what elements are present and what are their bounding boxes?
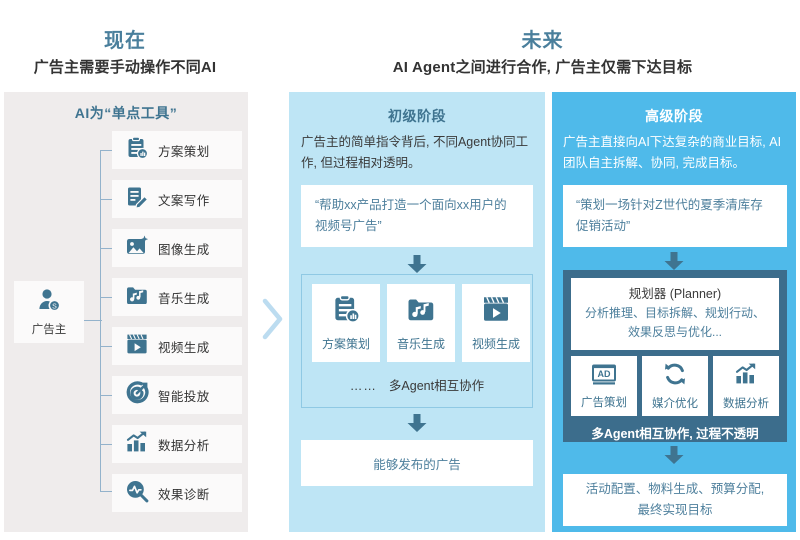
column-advanced-description: 广告主直接向AI下达复杂的商业目标, AI团队自主拆解、协同, 完成目标。 — [563, 132, 787, 174]
column-advanced-title: 高级阶段 — [552, 106, 796, 126]
tree-vertical-line — [100, 150, 101, 491]
ellipsis-dots: …… — [350, 379, 377, 393]
planner-title: 规划器 (Planner) — [579, 285, 771, 304]
video-clapboard-icon — [125, 332, 149, 361]
agent-card-label: 视频生成 — [472, 335, 520, 352]
primary-agent-cards: 方案策划 音乐生成 — [312, 284, 530, 362]
tool-label: 数据分析 — [158, 435, 210, 454]
ad-banner-icon: AD — [591, 363, 617, 390]
column-primary-quote: “帮助xx产品打造一个面向xx用户的视频号广告” — [301, 185, 533, 247]
agent-card-label: 方案策划 — [322, 335, 370, 352]
clipboard-plan-icon — [125, 136, 149, 165]
advertiser-label: 广告主 — [32, 321, 67, 337]
header-future-subtitle: AI Agent之间进行合作, 广告主仅需下达目标 — [285, 57, 800, 79]
tree-branch-2 — [100, 199, 112, 200]
image-sparkle-icon — [125, 234, 149, 263]
advertiser-card[interactable]: S 广告主 — [14, 281, 84, 343]
video-clapboard-icon — [481, 294, 511, 329]
left-panel-title: AI为“单点工具” — [4, 103, 248, 123]
column-advanced-quote: “策划一场针对Z世代的夏季清库存促销活动” — [563, 185, 787, 247]
tree-branch-7 — [100, 444, 112, 445]
tool-item-music[interactable]: 音乐生成 — [112, 278, 242, 316]
tree-branch-5 — [100, 346, 112, 347]
tool-label: 视频生成 — [158, 337, 210, 356]
header-present: 现在 广告主需要手动操作不同AI — [0, 28, 250, 79]
tool-item-delivery[interactable]: 智能投放 — [112, 376, 242, 414]
advanced-agents-caption: 多Agent相互协作, 过程不透明 — [571, 423, 779, 442]
agent-card-label: 音乐生成 — [397, 335, 445, 352]
advanced-output-box: 活动配置、物料生成、预算分配, 最终实现目标 — [563, 474, 787, 526]
music-folder-icon — [125, 283, 149, 312]
tool-item-plan[interactable]: 方案策划 — [112, 131, 242, 169]
clipboard-plan-icon — [331, 294, 361, 329]
tool-item-copywriting[interactable]: 文案写作 — [112, 180, 242, 218]
svg-text:S: S — [52, 304, 57, 311]
tool-label: 效果诊断 — [158, 484, 210, 503]
header-present-subtitle: 广告主需要手动操作不同AI — [0, 57, 250, 79]
bar-chart-growth-icon — [125, 430, 149, 459]
agent-card-video[interactable]: 视频生成 — [462, 284, 530, 362]
magnifier-pulse-icon — [125, 479, 149, 508]
arrow-down-icon — [401, 414, 433, 437]
tool-item-diagnosis[interactable]: 效果诊断 — [112, 474, 242, 512]
tool-label: 音乐生成 — [158, 288, 210, 307]
tree-branch-4 — [100, 297, 112, 298]
advanced-output-line1: 活动配置、物料生成、预算分配, — [586, 479, 764, 500]
tool-label: 智能投放 — [158, 386, 210, 405]
agent-card-label: 媒介优化 — [652, 395, 698, 411]
primary-output-box: 能够发布的广告 — [301, 440, 533, 486]
tool-item-video[interactable]: 视频生成 — [112, 327, 242, 365]
arrow-down-icon — [658, 446, 690, 469]
planner-card[interactable]: 规划器 (Planner) 分析推理、目标拆解、规划行动、 效果反思与优化... — [571, 278, 779, 350]
tool-item-analytics[interactable]: 数据分析 — [112, 425, 242, 463]
svg-text:AD: AD — [598, 369, 611, 379]
agent-card-media-optimization[interactable]: 媒介优化 — [642, 356, 708, 416]
primary-agents-group: 方案策划 音乐生成 — [301, 274, 533, 408]
advanced-output-line2: 最终实现目标 — [586, 500, 764, 521]
agent-card-music[interactable]: 音乐生成 — [387, 284, 455, 362]
column-advanced-stage: 高级阶段 广告主直接向AI下达复杂的商业目标, AI团队自主拆解、协同, 完成目… — [552, 92, 796, 532]
document-pencil-icon — [125, 185, 149, 214]
tool-label: 文案写作 — [158, 190, 210, 209]
bar-chart-growth-icon — [734, 362, 758, 391]
tree-branch-3 — [100, 248, 112, 249]
header-future-title: 未来 — [285, 28, 800, 54]
column-primary-stage: 初级阶段 广告主的简单指令背后, 不同Agent协同工作, 但过程相对透明。 “… — [289, 92, 545, 532]
tree-branch-8 — [100, 491, 112, 492]
planner-detail-line2: 效果反思与优化... — [579, 323, 771, 342]
agent-card-ad-planning[interactable]: AD 广告策划 — [571, 356, 637, 416]
header-present-title: 现在 — [0, 28, 250, 54]
tool-item-image[interactable]: 图像生成 — [112, 229, 242, 267]
agent-card-label: 广告策划 — [581, 394, 627, 410]
primary-agents-caption-row: ……多Agent相互协作 — [302, 375, 532, 394]
column-primary-title: 初级阶段 — [289, 106, 545, 126]
refresh-cycle-icon — [663, 362, 687, 391]
tree-branch-1 — [100, 150, 112, 151]
primary-agents-caption: 多Agent相互协作 — [389, 379, 484, 393]
target-arrow-icon — [125, 381, 149, 410]
infographic-canvas: 现在 广告主需要手动操作不同AI 未来 AI Agent之间进行合作, 广告主仅… — [0, 0, 800, 540]
user-advertiser-icon: S — [36, 287, 62, 318]
planner-detail-line1: 分析推理、目标拆解、规划行动、 — [579, 304, 771, 323]
header-future: 未来 AI Agent之间进行合作, 广告主仅需下达目标 — [285, 28, 800, 79]
agent-card-data-analysis[interactable]: 数据分析 — [713, 356, 779, 416]
chevron-right-icon — [262, 298, 284, 340]
advanced-agent-cards: AD 广告策划 媒介优化 — [571, 356, 779, 416]
tool-label: 方案策划 — [158, 141, 210, 160]
advanced-agent-team-panel: 规划器 (Planner) 分析推理、目标拆解、规划行动、 效果反思与优化...… — [563, 270, 787, 442]
agent-card-label: 数据分析 — [723, 395, 769, 411]
music-folder-icon — [406, 294, 436, 329]
column-primary-description: 广告主的简单指令背后, 不同Agent协同工作, 但过程相对透明。 — [301, 132, 533, 174]
tool-label: 图像生成 — [158, 239, 210, 258]
tree-branch-6 — [100, 395, 112, 396]
agent-card-plan[interactable]: 方案策划 — [312, 284, 380, 362]
